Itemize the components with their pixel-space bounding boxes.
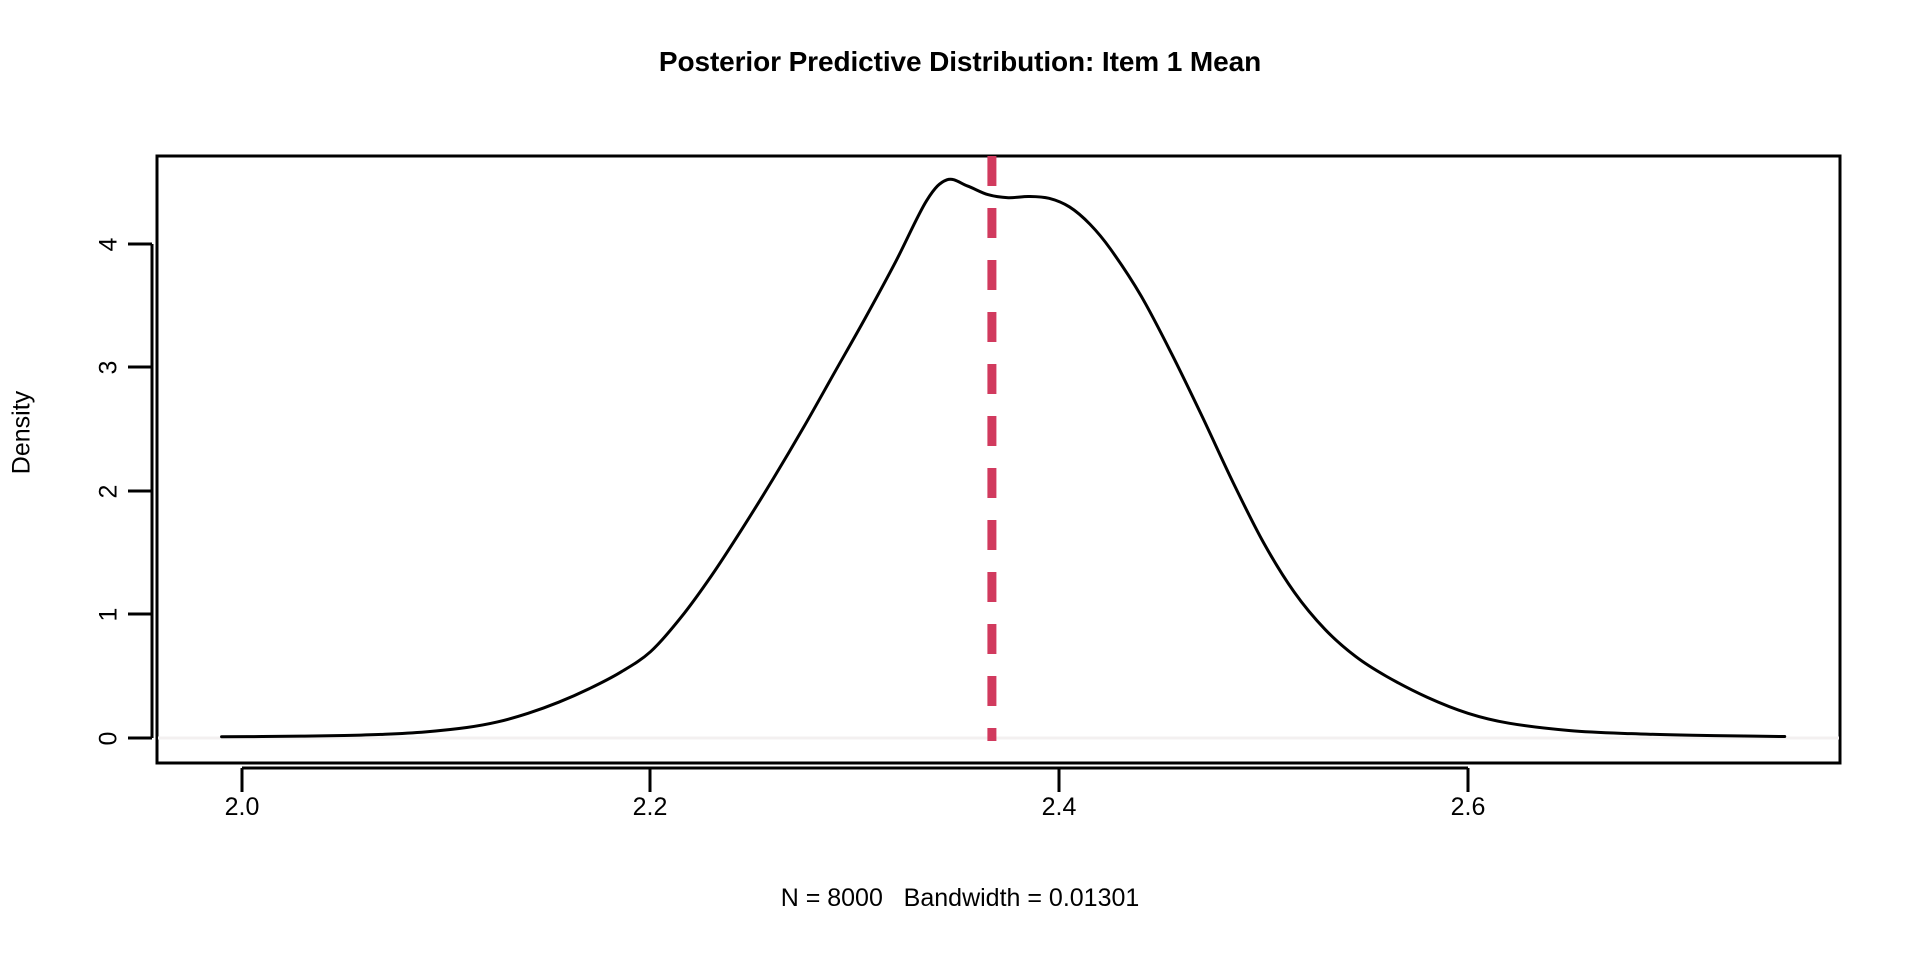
density-plot-figure: Posterior Predictive Distribution: Item … bbox=[0, 0, 1920, 960]
plot-box-border bbox=[157, 156, 1840, 763]
density-curve bbox=[222, 179, 1785, 737]
y-tick-label: 0 bbox=[95, 709, 124, 769]
y-tick-label: 2 bbox=[95, 462, 124, 522]
y-axis bbox=[128, 244, 152, 738]
y-tick-label: 3 bbox=[95, 338, 124, 398]
x-tick-label: 2.2 bbox=[605, 793, 695, 822]
x-axis bbox=[242, 768, 1468, 792]
x-tick-label: 2.6 bbox=[1423, 793, 1513, 822]
chart-subtitle: N = 8000 Bandwidth = 0.01301 bbox=[0, 884, 1920, 913]
y-tick-label: 1 bbox=[95, 585, 124, 645]
plot-canvas bbox=[0, 0, 1920, 960]
x-tick-label: 2.0 bbox=[197, 793, 287, 822]
y-tick-label: 4 bbox=[95, 215, 124, 275]
x-tick-label: 2.4 bbox=[1014, 793, 1104, 822]
